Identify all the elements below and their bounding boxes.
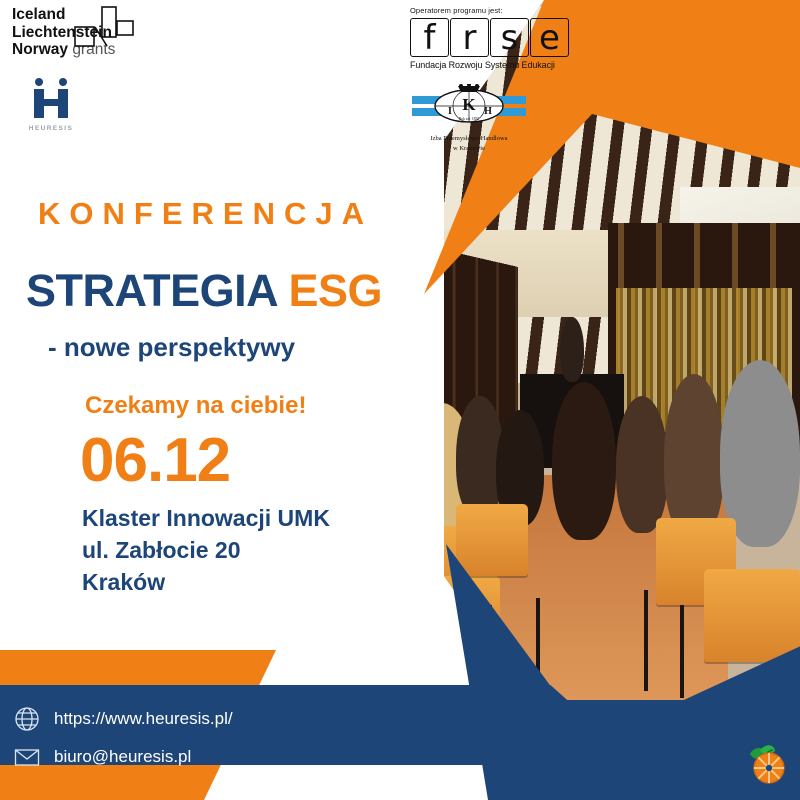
email-address[interactable]: biuro@heuresis.pl — [54, 738, 191, 776]
svg-text:I: I — [448, 106, 452, 117]
heuresis-logo: HEURESIS — [16, 78, 86, 132]
photo-chair — [456, 504, 528, 576]
photo-audience-head — [552, 382, 616, 540]
frse-logo: Operatorem programu jest: f r s e Fundac… — [410, 6, 575, 70]
photo-chair-leg — [644, 590, 648, 691]
contact-website-row[interactable]: https://www.heuresis.pl/ — [14, 700, 233, 738]
chamber-of-commerce-logo: K I H Rok zał. 1850 Izba Przemysłowo-Han… — [409, 84, 529, 153]
norway-grants-blocks-icon — [74, 5, 136, 52]
venue-line-3: Kraków — [82, 566, 330, 598]
frse-letter-box: e — [530, 18, 569, 57]
photo-speaker — [560, 317, 584, 382]
eyebrow-konferencja: KONFERENCJA — [38, 196, 373, 232]
orange-slice-icon — [740, 740, 788, 786]
svg-text:Rok zał. 1850: Rok zał. 1850 — [459, 117, 479, 121]
frse-subtitle: Fundacja Rozwoju Systemu Edukacji — [410, 60, 575, 70]
grants-line-3-bold: Norway — [12, 41, 68, 58]
photo-chair-leg — [680, 605, 684, 699]
svg-text:K: K — [462, 95, 476, 114]
page-title: STRATEGIA ESG — [26, 265, 382, 317]
norway-grants-logo: Iceland Liechtenstein Norway grants — [12, 6, 192, 59]
contact-info: https://www.heuresis.pl/ biuro@heuresis.… — [14, 700, 233, 776]
frse-letter-box: r — [450, 18, 489, 57]
contact-email-row[interactable]: biuro@heuresis.pl — [14, 738, 233, 776]
frse-letter-box: s — [490, 18, 529, 57]
website-url[interactable]: https://www.heuresis.pl/ — [54, 700, 233, 738]
event-date: 06.12 — [80, 425, 230, 496]
heuresis-wordmark: HEURESIS — [16, 125, 86, 132]
frse-caption: Operatorem programu jest: — [410, 6, 575, 15]
event-venue: Klaster Innowacji UMK ul. Zabłocie 20 Kr… — [82, 502, 330, 598]
photo-audience-head — [664, 374, 724, 540]
heuresis-h-icon — [16, 78, 86, 123]
globe-icon — [14, 706, 40, 732]
svg-text:H: H — [484, 106, 492, 117]
venue-line-1: Klaster Innowacji UMK — [82, 502, 330, 534]
title-accent-esg: ESG — [289, 265, 383, 316]
conference-poster: Iceland Liechtenstein Norway grants HEUR… — [0, 0, 800, 800]
photo-audience-head — [616, 396, 668, 533]
chamber-name-line-2: w Krakowie — [409, 145, 529, 153]
photo-chair — [704, 569, 800, 663]
page-subtitle: - nowe perspektywy — [48, 332, 295, 363]
cta-text: Czekamy na ciebie! — [85, 392, 306, 420]
frse-letter-box: f — [410, 18, 449, 57]
chamber-name-line-1: Izba Przemysłowo-Handlowa — [409, 135, 529, 143]
venue-line-2: ul. Zabłocie 20 — [82, 534, 330, 566]
title-main: STRATEGIA — [26, 265, 277, 316]
chamber-of-commerce-krakow-icon: K I H Rok zał. 1850 — [409, 84, 529, 133]
envelope-icon — [14, 744, 40, 770]
frse-letter-boxes: f r s e — [410, 18, 575, 57]
